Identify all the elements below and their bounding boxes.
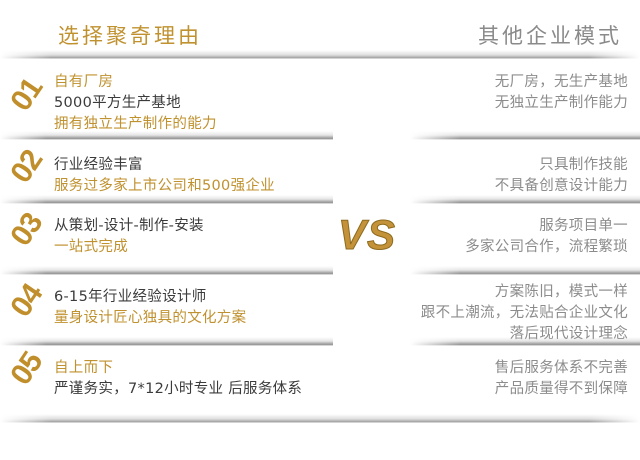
right-column-title: 其他企业模式 [478,20,622,50]
left-text-line: 服务过多家上市公司和500强企业 [54,176,275,197]
right-drawback-text: 只具制作技能不具备创意设计能力 [495,155,628,197]
right-text-line: 跟不上潮流，无法贴合企业文化 [421,303,628,324]
right-drawback-text: 无厂房，无生产基地无独立生产制作能力 [495,72,628,114]
left-text-line: 行业经验丰富 [54,155,275,176]
left-column-title: 选择聚奇理由 [58,20,202,50]
left-advantage-text: 自有厂房5000平方生产基地拥有独立生产制作的能力 [54,72,217,135]
row-number-01: 01 [0,65,55,125]
left-text-line: 自有厂房 [54,72,217,93]
right-text-line: 不具备创意设计能力 [495,176,628,197]
row-separator-left [0,195,333,204]
left-text-line: 6-15年行业经验设计师 [54,287,246,308]
footer-separator [0,414,640,423]
row-number-02: 02 [0,137,55,197]
right-text-line: 服务项目单一 [465,216,628,237]
left-text-line: 量身设计匠心独具的文化方案 [54,308,246,329]
row-number-03: 03 [0,200,55,260]
left-text-line: 严谨务实，7*12小时专业 后服务体系 [54,379,302,400]
left-text-line: 一站式完成 [54,237,204,258]
row-separator-left [0,337,333,346]
left-text-line: 从策划-设计-制作-安装 [54,216,204,237]
row-separator-right [410,131,640,140]
right-drawback-text: 方案陈旧，模式一样跟不上潮流，无法贴合企业文化落后现代设计理念 [421,282,628,345]
right-text-line: 方案陈旧，模式一样 [421,282,628,303]
header-row: 选择聚奇理由 其他企业模式 [0,0,640,56]
right-text-line: 无独立生产制作能力 [495,93,628,114]
row-separator-left [0,266,333,275]
left-text-line: 自上而下 [54,358,302,379]
header-separator [0,50,640,59]
row-number-05: 05 [0,339,55,399]
left-advantage-text: 自上而下严谨务实，7*12小时专业 后服务体系 [54,358,302,400]
left-text-line: 5000平方生产基地 [54,93,217,114]
row-separator-right [410,266,640,275]
left-advantage-text: 6-15年行业经验设计师量身设计匠心独具的文化方案 [54,287,246,329]
right-drawback-text: 服务项目单一多家公司合作，流程繁琐 [465,216,628,258]
right-drawback-text: 售后服务体系不完善产品质量得不到保障 [495,358,628,400]
right-text-line: 只具制作技能 [495,155,628,176]
right-text-line: 售后服务体系不完善 [495,358,628,379]
row-separator-left [0,131,333,140]
row-separator-right [410,195,640,204]
comparison-infographic: 选择聚奇理由 其他企业模式 01自有厂房5000平方生产基地拥有独立生产制作的能… [0,0,640,460]
right-text-line: 多家公司合作，流程繁琐 [465,237,628,258]
row-number-04: 04 [0,271,55,331]
row-separator-right [410,337,640,346]
left-advantage-text: 行业经验丰富服务过多家上市公司和500强企业 [54,155,275,197]
vs-badge: VS [338,211,396,259]
right-text-line: 无厂房，无生产基地 [495,72,628,93]
left-advantage-text: 从策划-设计-制作-安装一站式完成 [54,216,204,258]
right-text-line: 产品质量得不到保障 [495,379,628,400]
